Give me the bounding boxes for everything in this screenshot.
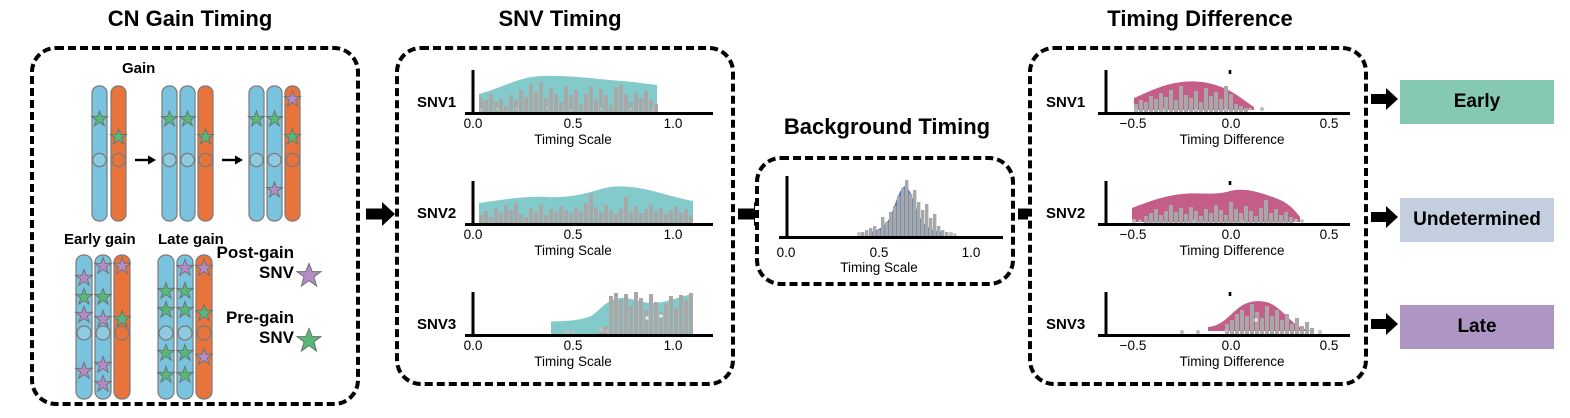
legend-pre-gain-line1: Pre-gain <box>204 308 294 328</box>
background-timing-tick-2: 1.0 <box>955 245 987 260</box>
snv-timing-tick-2-2: 1.0 <box>657 227 689 242</box>
snv-timing-tick-1-1: 0.5 <box>557 116 589 131</box>
timing-difference-tick-2-0: −0.5 <box>1114 227 1152 242</box>
classification-box-late[interactable]: Late <box>1400 305 1554 349</box>
timing-difference-tick-1-2: 0.5 <box>1310 116 1348 131</box>
snv-timing-tick-3-1: 0.5 <box>557 338 589 353</box>
panel-title-timing-difference: Timing Difference <box>1030 6 1370 32</box>
snv-timing-tick-2-1: 0.5 <box>557 227 589 242</box>
cn-gain-panel: Gain <box>30 46 360 406</box>
timing-difference-tick-1-1: 0.0 <box>1212 116 1250 131</box>
arrow-cn-to-snv <box>366 200 396 228</box>
snv-timing-row-label-3: SNV3 <box>417 316 456 333</box>
timing-difference-row-label-1: SNV1 <box>1046 94 1085 111</box>
timing-difference-row-label-3: SNV3 <box>1046 316 1085 333</box>
background-timing-panel: 0.0 0.5 1.0 Timing Scale <box>755 156 1015 286</box>
timing-difference-row-label-2: SNV2 <box>1046 205 1085 222</box>
background-timing-xlabel: Timing Scale <box>815 260 943 275</box>
snv-timing-xlabel-2: Timing Scale <box>509 243 637 258</box>
arrow-to-late <box>1371 311 1399 337</box>
snv-timing-tick-3-2: 1.0 <box>657 338 689 353</box>
legend-pre-gain-line2: SNV <box>204 328 294 348</box>
early-gain-label: Early gain <box>64 231 136 248</box>
timing-difference-tick-1-0: −0.5 <box>1114 116 1152 131</box>
snv-timing-row-label-1: SNV1 <box>417 94 456 111</box>
arrow-to-early <box>1371 86 1399 112</box>
snv-timing-panel: SNV1 <box>395 46 735 386</box>
snv-timing-tick-1-2: 1.0 <box>657 116 689 131</box>
post-gain-snv-icon <box>296 262 322 288</box>
classification-box-undetermined[interactable]: Undetermined <box>1400 198 1554 242</box>
arrow-to-undetermined <box>1371 204 1399 230</box>
gain-progression-diagram <box>74 82 324 227</box>
pre-gain-snv-icon <box>296 327 322 353</box>
classification-label-early: Early <box>1454 91 1500 113</box>
classification-box-early[interactable]: Early <box>1400 80 1554 124</box>
legend-pre-gain-label: Pre-gain SNV <box>204 308 294 348</box>
snv-timing-row-label-2: SNV2 <box>417 205 456 222</box>
snv-timing-tick-3-0: 0.0 <box>457 338 489 353</box>
classification-label-late: Late <box>1457 316 1496 338</box>
timing-difference-xlabel-1: Timing Difference <box>1160 132 1304 147</box>
snv-timing-tick-2-0: 0.0 <box>457 227 489 242</box>
background-timing-tick-1: 0.5 <box>863 245 895 260</box>
timing-difference-tick-3-1: 0.0 <box>1212 338 1250 353</box>
timing-difference-xlabel-2: Timing Difference <box>1160 243 1304 258</box>
timing-difference-tick-2-2: 0.5 <box>1310 227 1348 242</box>
timing-difference-tick-3-2: 0.5 <box>1310 338 1348 353</box>
timing-difference-xlabel-3: Timing Difference <box>1160 354 1304 369</box>
classification-label-undetermined: Undetermined <box>1413 209 1541 231</box>
background-timing-tick-0: 0.0 <box>770 245 802 260</box>
timing-difference-tick-3-0: −0.5 <box>1114 338 1152 353</box>
panel-title-cn-gain: CN Gain Timing <box>20 6 360 32</box>
legend-post-gain-line2: SNV <box>204 263 294 283</box>
snv-timing-xlabel-3: Timing Scale <box>509 354 637 369</box>
legend-post-gain-label: Post-gain SNV <box>204 243 294 283</box>
snv-timing-xlabel-1: Timing Scale <box>509 132 637 147</box>
gain-label: Gain <box>122 60 155 77</box>
legend-post-gain-line1: Post-gain <box>204 243 294 263</box>
panel-title-background-timing: Background Timing <box>752 114 1022 140</box>
timing-difference-panel: SNV1 <box>1028 46 1368 386</box>
timing-difference-tick-2-1: 0.0 <box>1212 227 1250 242</box>
snv-timing-tick-1-0: 0.0 <box>457 116 489 131</box>
figure-canvas: CN Gain Timing SNV Timing Background Tim… <box>0 0 1570 418</box>
panel-title-snv-timing: SNV Timing <box>395 6 725 32</box>
